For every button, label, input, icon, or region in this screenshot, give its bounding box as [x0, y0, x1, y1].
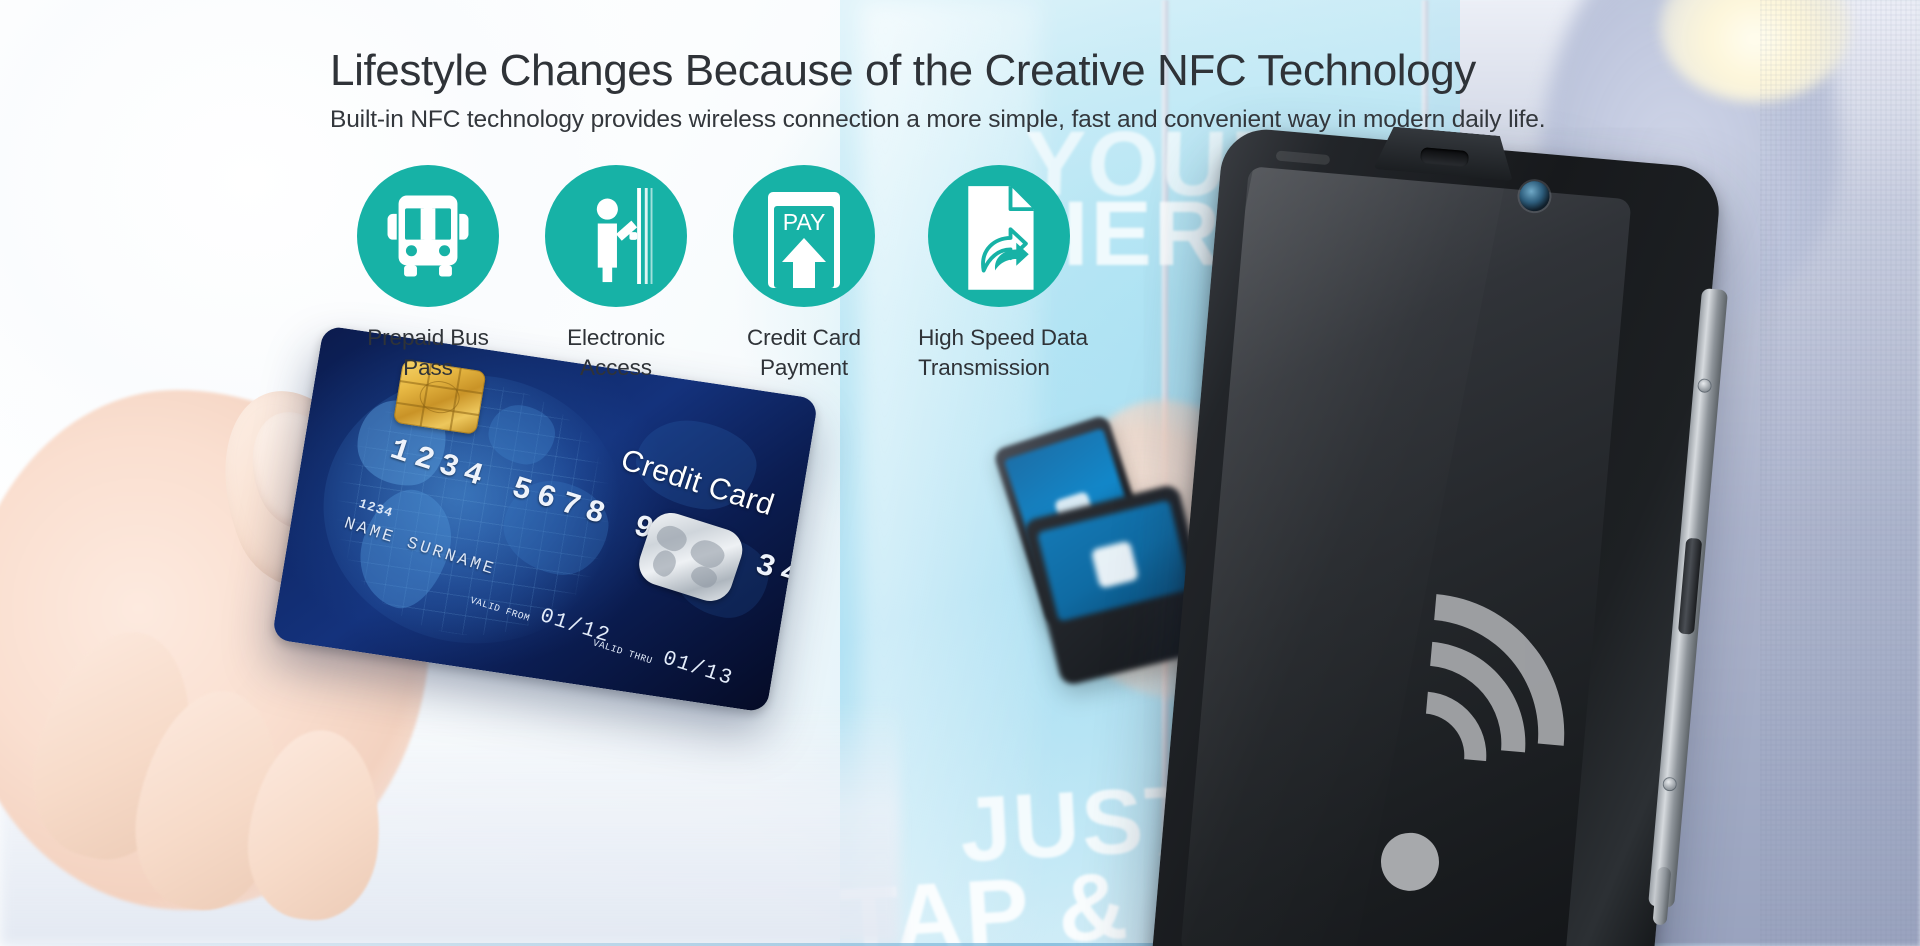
hologram-landmass — [688, 564, 719, 591]
hologram-landmass — [654, 522, 690, 554]
nfc-smartphone — [1149, 126, 1722, 946]
feature-label: Credit Card Payment — [747, 323, 861, 382]
feature-prepaid-bus-pass[interactable]: Prepaid Bus Pass — [334, 165, 522, 382]
pay-card-icon: PAY — [733, 165, 875, 307]
feature-high-speed-data[interactable]: High Speed Data Transmission — [898, 165, 1108, 382]
door-access-icon — [545, 165, 687, 307]
svg-text:PAY: PAY — [783, 209, 826, 235]
hologram-landmass — [650, 548, 679, 579]
emv-chip-contact — [417, 378, 462, 415]
hand-holding-card: 1234 1234 5678 9012 3456 NAME SURNAME Cr… — [0, 330, 1020, 946]
feature-label: High Speed Data Transmission — [918, 323, 1088, 382]
page-title: Lifestyle Changes Because of the Creativ… — [330, 48, 1750, 95]
phone-screen — [1180, 166, 1631, 946]
feature-list: Prepaid Bus Pass Electronic Access PAY — [334, 165, 1108, 382]
page-subtitle: Built-in NFC technology provides wireles… — [330, 106, 1750, 134]
file-transfer-icon — [928, 165, 1070, 307]
card-valid-thru: VALID THRU 01/13 — [591, 626, 736, 691]
bus-icon — [357, 165, 499, 307]
card-valid-thru-label: VALID THRU — [591, 638, 653, 666]
feature-label: Prepaid Bus Pass — [367, 323, 488, 382]
background-mesh-texture — [1760, 0, 1920, 946]
feature-label: Electronic Access — [567, 323, 665, 382]
hologram-landmass — [687, 536, 728, 571]
headline-block: Lifestyle Changes Because of the Creativ… — [330, 48, 1750, 134]
feature-credit-card-payment[interactable]: PAY Credit Card Payment — [710, 165, 898, 382]
feature-electronic-access[interactable]: Electronic Access — [522, 165, 710, 382]
card-valid-thru-value: 01/13 — [660, 647, 737, 691]
nfc-wave-icon — [1259, 571, 1577, 925]
